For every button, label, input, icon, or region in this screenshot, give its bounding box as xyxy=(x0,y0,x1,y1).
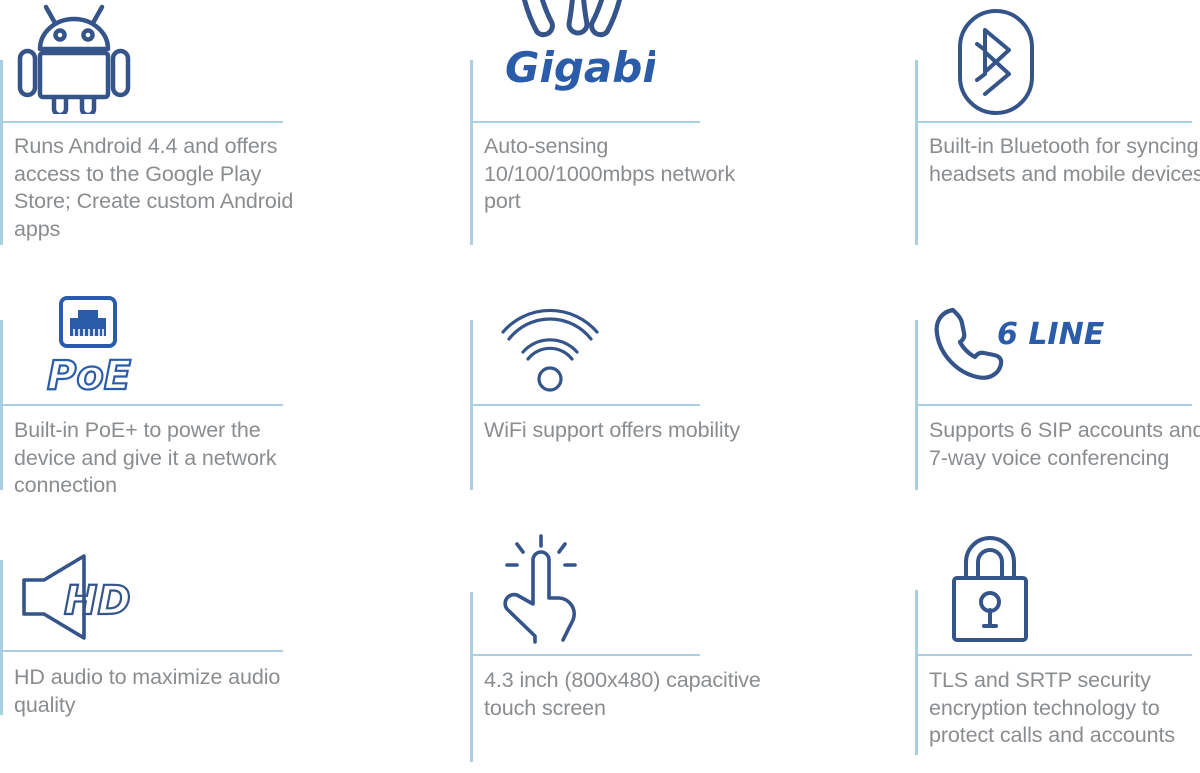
feature-description: TLS and SRTP security encryption technol… xyxy=(929,667,1200,750)
android-robot-icon xyxy=(16,2,132,114)
cell-vertical-rule xyxy=(915,590,918,755)
cell-vertical-rule xyxy=(0,60,3,245)
speaker-icon: HD xyxy=(18,552,143,642)
feature-description: HD audio to maximize audio quality xyxy=(14,664,314,719)
ethernet-cable-icon: Gigabit xyxy=(495,0,655,112)
hd-badge-label: HD xyxy=(64,578,131,624)
phone-handset-icon: 6 LINES xyxy=(929,304,1104,384)
cell-horizontal-rule xyxy=(470,654,700,656)
rj45-jack-icon: PoE xyxy=(45,296,141,396)
bluetooth-icon xyxy=(941,8,1051,116)
cell-horizontal-rule xyxy=(915,404,1192,406)
cell-horizontal-rule xyxy=(915,121,1192,123)
cell-horizontal-rule xyxy=(470,121,700,123)
feature-grid: Runs Android 4.4 and offers access to th… xyxy=(0,0,1200,773)
cell-vertical-rule xyxy=(0,560,3,715)
feature-description: Auto-sensing 10/100/1000mbps network por… xyxy=(484,133,764,216)
lines-badge-label: 6 LINES xyxy=(997,317,1104,352)
cell-vertical-rule xyxy=(470,60,473,245)
feature-description: Supports 6 SIP accounts and 7-way voice … xyxy=(929,417,1200,472)
feature-description: Built-in PoE+ to power the device and gi… xyxy=(14,417,314,500)
cell-horizontal-rule xyxy=(470,404,700,406)
cell-horizontal-rule xyxy=(915,654,1192,656)
feature-description: Built-in Bluetooth for syncing headsets … xyxy=(929,133,1200,188)
wifi-signal-icon xyxy=(495,302,605,394)
cell-horizontal-rule xyxy=(0,121,283,123)
tap-hand-icon xyxy=(495,532,595,646)
padlock-icon xyxy=(940,534,1040,646)
cell-vertical-rule xyxy=(915,60,918,245)
cell-vertical-rule xyxy=(470,592,473,762)
cell-horizontal-rule xyxy=(0,404,283,406)
gigabit-badge-label: Gigabit xyxy=(505,43,655,92)
poe-badge-label: PoE xyxy=(47,353,131,396)
feature-description: WiFi support offers mobility xyxy=(484,417,764,445)
feature-description: Runs Android 4.4 and offers access to th… xyxy=(14,133,314,243)
cell-horizontal-rule xyxy=(0,650,283,652)
feature-description: 4.3 inch (800x480) capacitive touch scre… xyxy=(484,667,764,722)
